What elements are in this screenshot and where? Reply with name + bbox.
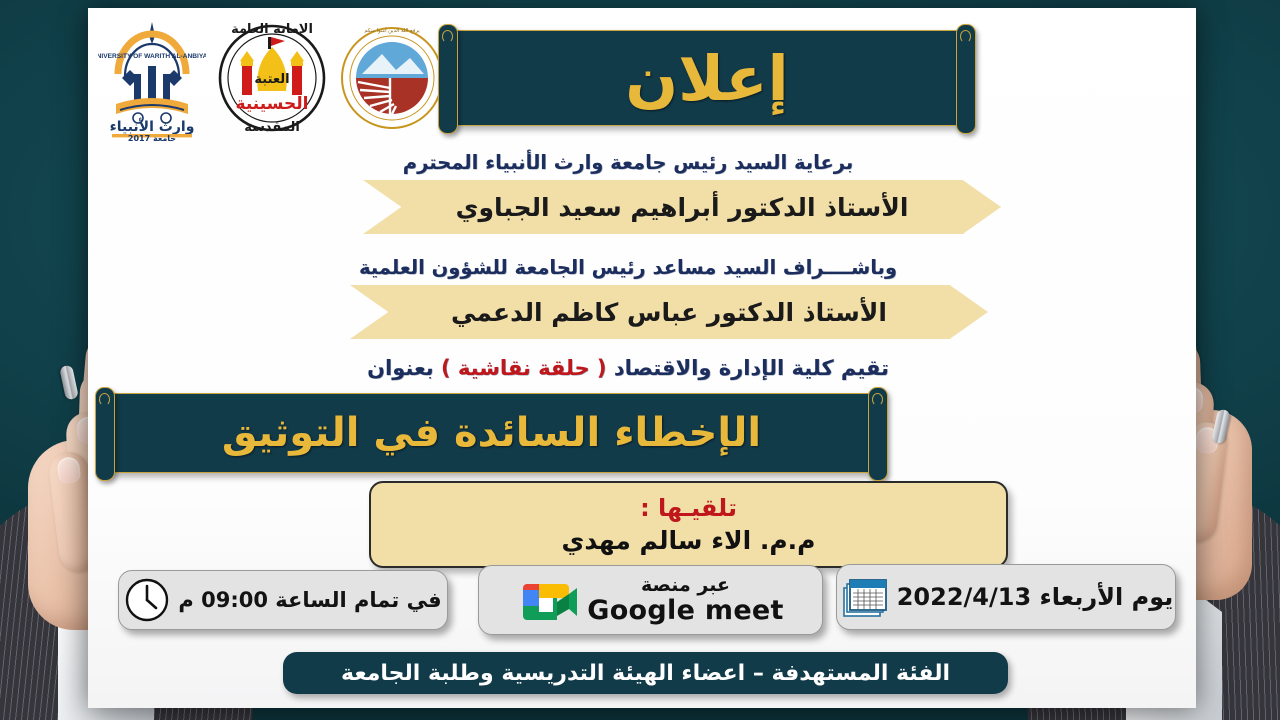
svg-text:وارث الأنبياء: وارث الأنبياء [110,118,195,135]
time-text: في تمام الساعة 09:00 م [178,588,441,612]
date-text: يوم الأربعاء 2022/4/13 [897,583,1174,611]
college-line: تقيم كلية الإدارة والاقتصاد ( حلقة نقاشي… [74,356,1182,380]
time-pill: في تمام الساعة 09:00 م [118,570,448,630]
scroll-curl-right [956,24,976,134]
sponsor-line: برعاية السيد رئيس جامعة وارث الأنبياء ال… [74,151,1182,174]
target-audience-text: الفئة المستهدفة – اعضاء الهيئة التدريسية… [341,661,950,686]
supervisor-name-banner: الأستاذ الدكتور عباس كاظم الدعمي [350,285,988,339]
title-scroll-curl-right [868,387,888,481]
clock-icon [124,577,170,623]
svg-text:جامعة 2017: جامعة 2017 [128,134,176,142]
sponsor-name-banner: الأستاذ الدكتور أبراهيم سعيد الجباوي [363,180,1001,234]
platform-label: عبر منصة [641,575,730,596]
svg-text:العتبة: العتبة [254,72,289,87]
target-audience-bar: الفئة المستهدفة – اعضاء الهيئة التدريسية… [283,652,1008,694]
supervisor-line: وباشــــراف السيد مساعد رئيس الجامعة للش… [74,256,1182,279]
college-line-after: بعنوان [367,356,441,380]
calendar-icon [839,574,889,620]
svg-text:الحسينية: الحسينية [236,94,309,114]
speaker-name: م.م. الاء سالم مهدي [561,526,815,555]
sponsor-name: الأستاذ الدكتور أبراهيم سعيد الجباوي [456,193,909,222]
university-logo: UNIVERSITY OF WARITH AL-ANBIYAA وارث الأ… [98,14,206,142]
speaker-box: تلقيـها : م.م. الاء سالم مهدي [369,481,1008,568]
seminar-title: الإخطاء السائدة في التوثيق [222,410,761,456]
google-meet-icon [517,576,579,624]
shrine-logo: الامانة العامة العتبة الحسينية المقدسة [216,17,328,139]
announcement-title: إعلان [625,42,789,115]
platform-pill[interactable]: عبر منصة Google meet [478,565,823,635]
scroll-curl-left [438,24,458,134]
svg-text:UNIVERSITY OF WARITH AL-ANBIYA: UNIVERSITY OF WARITH AL-ANBIYAA [98,53,206,60]
svg-text:الامانة العامة: الامانة العامة [231,22,313,37]
svg-text:يرفع الله الذين آمنوا منكم: يرفع الله الذين آمنوا منكم [364,27,420,34]
college-line-highlight: ( حلقة نقاشية ) [441,356,607,380]
date-pill: يوم الأربعاء 2022/4/13 [836,564,1176,630]
title-scroll-curl-left [95,387,115,481]
poster-board: UNIVERSITY OF WARITH AL-ANBIYAA وارث الأ… [88,8,1196,708]
supervisor-name: الأستاذ الدكتور عباس كاظم الدعمي [451,298,887,327]
announcement-banner: إعلان [446,30,968,126]
speaker-label: تلقيـها : [640,494,737,522]
svg-text:المقدسة: المقدسة [244,120,300,135]
college-line-before: تقيم كلية الإدارة والاقتصاد [607,356,889,380]
platform-name: Google meet [587,596,784,625]
seminar-title-banner: الإخطاء السائدة في التوثيق [103,393,880,473]
